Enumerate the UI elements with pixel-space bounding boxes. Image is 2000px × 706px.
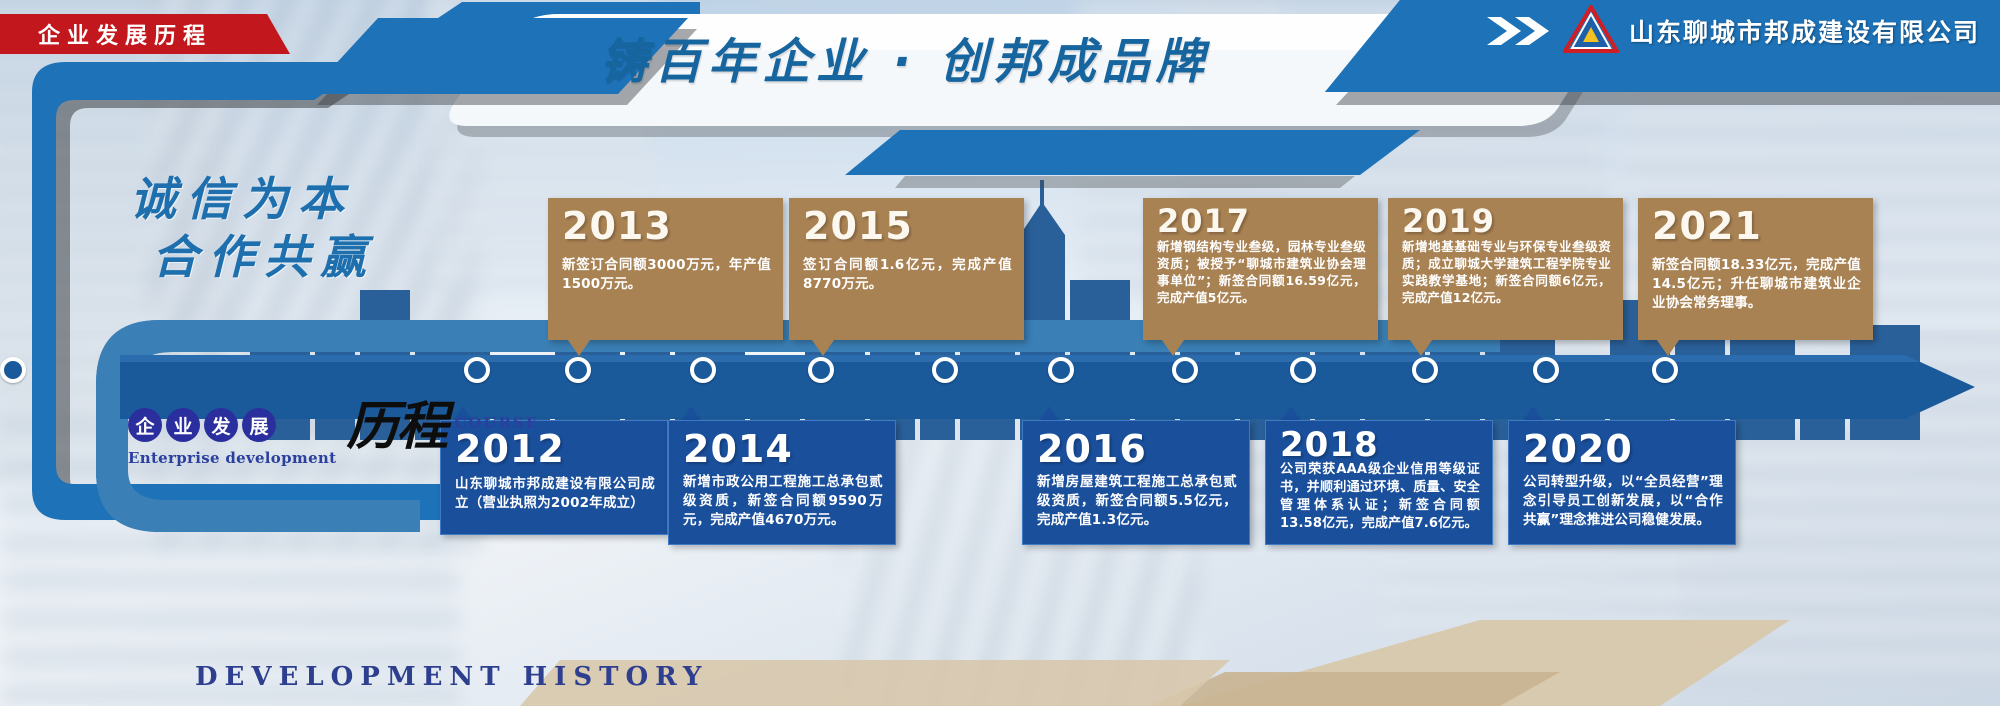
timeline-card-year: 2013: [562, 206, 771, 246]
timeline-dot[interactable]: [464, 357, 490, 383]
timeline-card-pointer: [568, 340, 590, 356]
timeline-card-2017[interactable]: 2017 新增钢结构专业叁级，园林专业叁级资质；被授予“聊城市建筑业协会理事单位…: [1143, 198, 1378, 340]
timeline-card-2013[interactable]: 2013 新签订合同额3000万元，年产值1500万元。: [548, 198, 783, 340]
timeline-card-text: 新签订合同额3000万元，年产值1500万元。: [562, 256, 771, 294]
enterprise-development-badge: 企 业 发 展 Enterprise development 历程 COURSE: [128, 408, 539, 467]
timeline-card-2021[interactable]: 2021 新签合同额18.33亿元，完成产值14.5亿元；升任聊城市建筑业企业协…: [1638, 198, 1873, 340]
badge-course-label: COURSE: [454, 414, 539, 432]
timeline-card-text: 山东聊城市邦成建设有限公司成立（营业执照为2002年成立）: [455, 475, 655, 513]
timeline-dot[interactable]: [690, 357, 716, 383]
page-title-ribbon: 企业发展历程: [0, 14, 290, 54]
page-title-text: 企业发展历程: [0, 18, 212, 50]
timeline-card-text: 新增市政公用工程施工总承包贰级资质，新签合同额9590万元，完成产值4670万元…: [683, 473, 883, 530]
badge-english-label: Enterprise development: [128, 449, 336, 467]
timeline-card-year: 2020: [1523, 429, 1723, 469]
timeline-dot[interactable]: [1652, 357, 1678, 383]
blue-frame-graphic: [0, 0, 2000, 706]
slogan-text: 铸百年企业 · 创邦成品牌: [600, 22, 1210, 92]
company-motto: 诚信为本 合作共赢: [130, 170, 376, 286]
timeline-dot[interactable]: [1533, 357, 1559, 383]
timeline-card-year: 2015: [803, 206, 1012, 246]
timeline-card-pointer: [1657, 340, 1679, 356]
timeline-card-pointer: [1410, 340, 1432, 356]
timeline-card-text: 公司转型升级，以“全员经营”理念引导员工创新发展，以“合作共赢”理念推进公司稳健…: [1523, 473, 1723, 530]
timeline-card-2020[interactable]: 2020 公司转型升级，以“全员经营”理念引导员工创新发展，以“合作共赢”理念推…: [1508, 420, 1736, 545]
motto-line-2: 合作共赢: [152, 228, 376, 286]
triangle-logo-icon: [1563, 5, 1619, 58]
poster-canvas: 企业发展历程 铸百年企业 · 创邦成品牌 山东聊城市邦成建设有限公司 诚信为本 …: [0, 0, 2000, 706]
timeline-card-year: 2017: [1157, 206, 1366, 236]
timeline-card-2015[interactable]: 2015 签订合同额1.6亿元，完成产值8770万元。: [789, 198, 1024, 340]
badge-circle-char: 业: [166, 408, 200, 442]
footer-english-title: DEVELOPMENT HISTORY: [195, 662, 708, 692]
company-name: 山东聊城市邦成建设有限公司: [1629, 13, 1980, 49]
timeline-dot[interactable]: [1048, 357, 1074, 383]
timeline-card-text: 新增房屋建筑工程施工总承包贰级资质，新签合同额5.5亿元，完成产值1.3亿元。: [1037, 473, 1237, 530]
timeline-card-2018[interactable]: 2018 公司荣获AAA级企业信用等级证书，并顺利通过环境、质量、安全管理体系认…: [1265, 420, 1493, 545]
badge-circle-group: 企 业 发 展: [128, 408, 336, 442]
timeline-card-text: 新增钢结构专业叁级，园林专业叁级资质；被授予“聊城市建筑业协会理事单位”；新签合…: [1157, 238, 1366, 306]
timeline-card-year: 2021: [1652, 206, 1861, 246]
timeline-dot[interactable]: [565, 357, 591, 383]
timeline-card-year: 2014: [683, 429, 883, 469]
motto-line-1: 诚信为本: [130, 170, 376, 228]
timeline-card-year: 2019: [1402, 206, 1611, 236]
timeline-card-2014[interactable]: 2014 新增市政公用工程施工总承包贰级资质，新签合同额9590万元，完成产值4…: [668, 420, 896, 545]
timeline-dot[interactable]: [1290, 357, 1316, 383]
timeline-card-text: 签订合同额1.6亿元，完成产值8770万元。: [803, 256, 1012, 294]
badge-script-text: 历程: [346, 402, 446, 452]
timeline-card-2016[interactable]: 2016 新增房屋建筑工程施工总承包贰级资质，新签合同额5.5亿元，完成产值1.…: [1022, 420, 1250, 545]
timeline-dot[interactable]: [808, 357, 834, 383]
double-chevron-icon: [1485, 14, 1553, 48]
timeline-card-text: 新增地基基础专业与环保专业叁级资质；成立聊城大学建筑工程学院专业实践教学基地；新…: [1402, 238, 1611, 306]
timeline-card-2019[interactable]: 2019 新增地基基础专业与环保专业叁级资质；成立聊城大学建筑工程学院专业实践教…: [1388, 198, 1623, 340]
timeline-card-text: 新签合同额18.33亿元，完成产值14.5亿元；升任聊城市建筑业企业协会常务理事…: [1652, 256, 1861, 313]
timeline-dot[interactable]: [932, 357, 958, 383]
timeline-card-pointer: [812, 340, 834, 356]
timeline-dot[interactable]: [1172, 357, 1198, 383]
timeline-card-text: 公司荣获AAA级企业信用等级证书，并顺利通过环境、质量、安全管理体系认证；新签合…: [1280, 461, 1480, 533]
brand-bar: 山东聊城市邦成建设有限公司: [1485, 0, 2000, 62]
badge-circle-char: 企: [128, 408, 162, 442]
timeline-dot[interactable]: [1412, 357, 1438, 383]
timeline-card-pointer: [1162, 340, 1184, 356]
badge-circle-char: 发: [204, 408, 238, 442]
timeline-card-year: 2016: [1037, 429, 1237, 469]
badge-circle-char: 展: [242, 408, 276, 442]
timeline-card-year: 2018: [1280, 429, 1480, 461]
